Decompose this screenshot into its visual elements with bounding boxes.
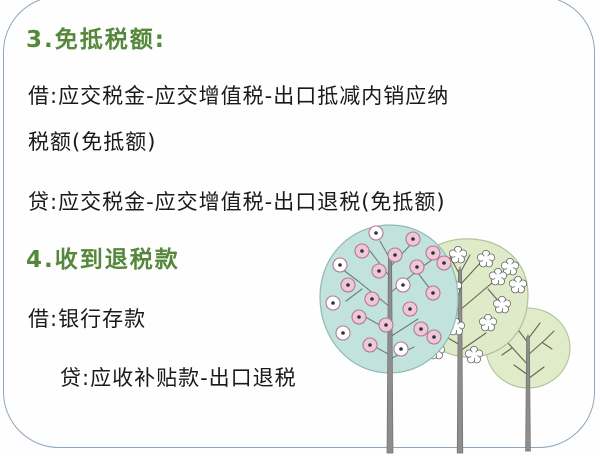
slide-canvas: 3.免抵税额: 借:应交税金-应交增值税-出口抵减内销应纳 税额(免抵额) 贷:… — [0, 0, 600, 456]
section-heading-4: 4.收到退税款 — [26, 240, 180, 274]
teal-blossom-tree — [320, 225, 458, 453]
entry-line-debit-2: 借:银行存款 — [28, 303, 146, 333]
decorative-trees — [300, 215, 600, 456]
entry-line-credit-1: 贷:应交税金-应交增值税-出口退税(免抵额) — [28, 186, 446, 216]
entry-line-credit-2: 贷:应收补贴款-出口退税 — [60, 362, 297, 392]
entry-line-debit-1: 借:应交税金-应交增值税-出口抵减内销应纳 — [28, 80, 449, 110]
section-heading-3: 3.免抵税额: — [26, 20, 166, 54]
entry-line-debit-1-cont: 税额(免抵额) — [28, 126, 156, 156]
